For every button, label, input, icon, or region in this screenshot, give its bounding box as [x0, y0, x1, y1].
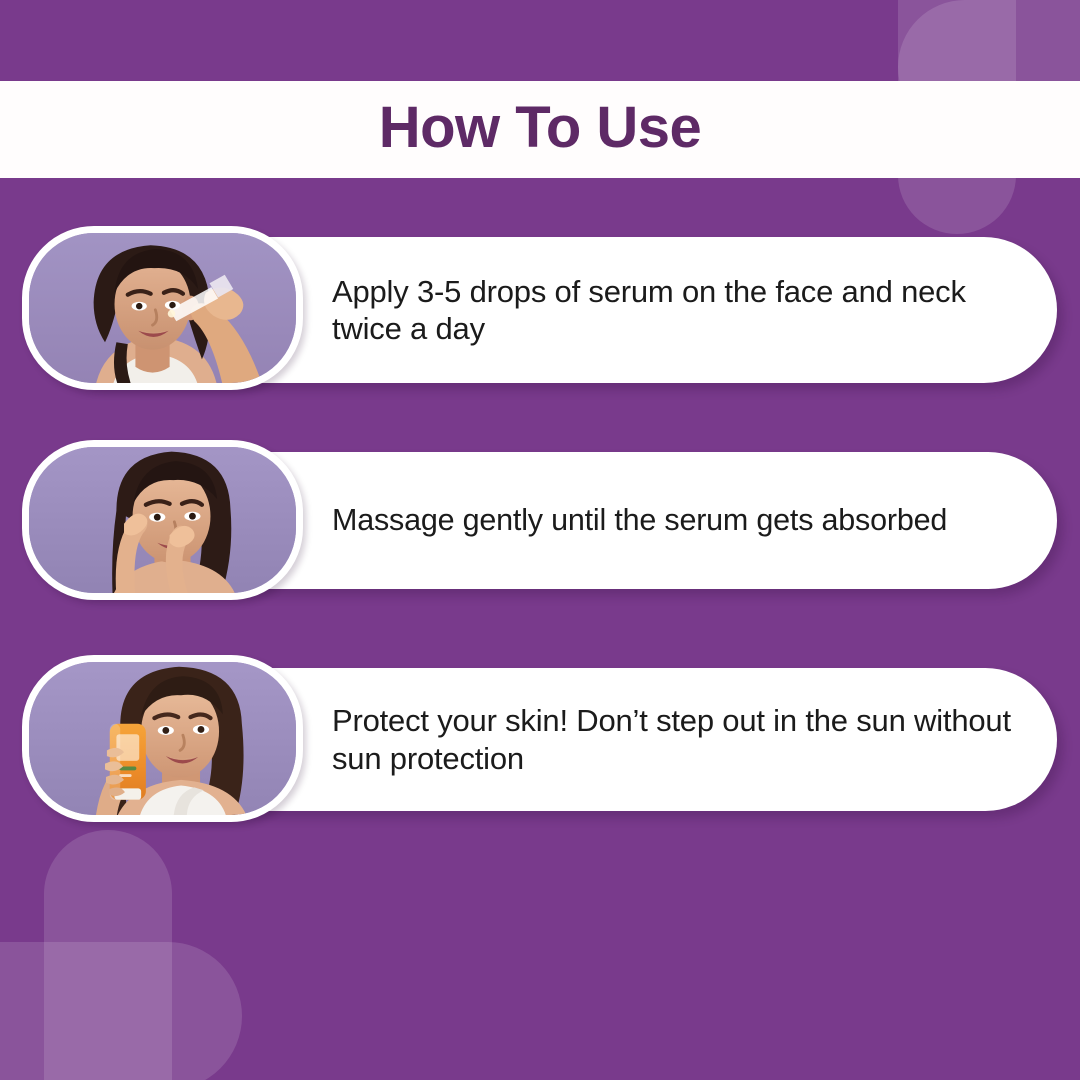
- woman-applying-serum-dropper-photo: [22, 226, 303, 390]
- woman-holding-sunscreen-tube-photo: [22, 655, 303, 822]
- step-card: Protect your skin! Don’t step out in the…: [30, 668, 1057, 811]
- step-text: Massage gently until the serum gets abso…: [332, 502, 987, 539]
- step-card: Massage gently until the serum gets abso…: [30, 452, 1057, 589]
- plus-horizontal-bar: [0, 942, 242, 1080]
- step-text: Apply 3-5 drops of serum on the face and…: [332, 273, 1057, 348]
- step-text: Protect your skin! Don’t step out in the…: [332, 702, 1057, 777]
- woman-massaging-face-photo: [22, 440, 303, 600]
- plus-vertical-bar: [44, 830, 172, 1080]
- title-banner: How To Use: [0, 81, 1080, 178]
- step-card: Apply 3-5 drops of serum on the face and…: [30, 237, 1057, 383]
- how-to-use-poster: How To Use: [0, 0, 1080, 1080]
- plus-shape-decoration-bottom-left: [0, 830, 242, 1080]
- page-title: How To Use: [379, 99, 702, 161]
